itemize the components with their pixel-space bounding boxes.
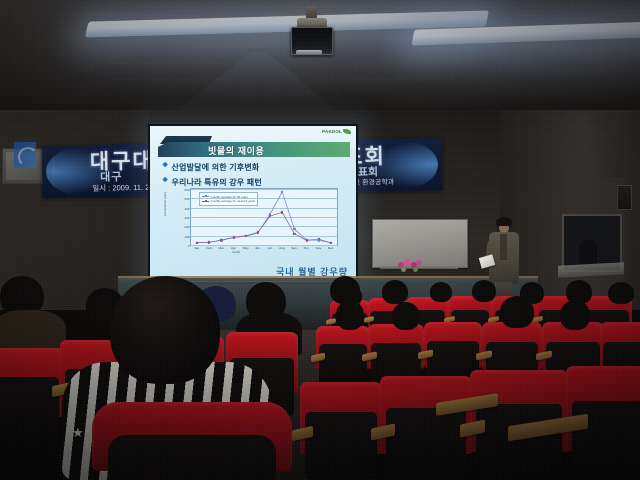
slide-bullet: ❖ 산업발달에 의한 기후변화 xyxy=(162,162,352,173)
chart-x-tick-label: Jan. xyxy=(194,246,200,250)
rainfall-chart: precipitation (mm) monthly average for 3… xyxy=(164,186,346,262)
chart-x-axis-title: month xyxy=(232,250,240,254)
chart-data-point xyxy=(196,242,198,244)
flower-leaf xyxy=(413,267,418,272)
attendee-head xyxy=(330,276,360,304)
chart-data-point xyxy=(281,191,283,193)
chart-data-point xyxy=(293,233,295,235)
attendee-head xyxy=(472,280,496,302)
chart-data-point xyxy=(232,236,234,238)
chart-data-point xyxy=(318,238,320,240)
chart-data-point xyxy=(330,242,332,244)
projector-lens xyxy=(296,50,322,55)
seat-shell xyxy=(0,377,59,442)
chart-x-tick-label: Dec. xyxy=(328,246,334,250)
auditorium-photo: 대구대 대구 일시 : 2009. 11. 20 발표회 발표회 대구대학교 환… xyxy=(0,0,640,480)
seat-armrest-group xyxy=(508,420,594,438)
chart-series-line xyxy=(197,212,331,243)
chart-series-layer xyxy=(191,189,337,245)
chart-y-tick-label: 200 xyxy=(184,225,189,229)
attendee-head xyxy=(500,296,534,328)
flower-petal xyxy=(404,259,411,266)
bullet-marker-icon: ❖ xyxy=(162,162,168,170)
attendee-head xyxy=(560,300,590,330)
flower-leaf xyxy=(401,267,406,272)
ceiling-seam xyxy=(350,60,476,64)
chart-x-tick-label: Jun. xyxy=(255,246,261,250)
wall-speaker xyxy=(617,185,632,210)
chart-plot-area: monthly average for 30 years monthly ave… xyxy=(190,188,338,246)
chart-y-tick-label: 600 xyxy=(184,188,189,192)
chart-data-point xyxy=(281,211,283,213)
chart-x-tick-label: Feb. xyxy=(206,246,212,250)
chart-x-tick-label: Jul. xyxy=(268,246,273,250)
seat-shell xyxy=(108,435,276,480)
bullet-text: 산업발달에 의한 기후변화 xyxy=(171,162,259,173)
foreground-attendee-head xyxy=(110,276,220,384)
chart-x-tick-label: Mar. xyxy=(218,246,224,250)
chart-data-point xyxy=(257,231,259,233)
chart-y-tick-label: 400 xyxy=(184,207,189,211)
auditorium-seat[interactable] xyxy=(380,376,472,480)
chart-y-axis-title: precipitation (mm) xyxy=(163,192,167,216)
chart-y-tick-label: 100 xyxy=(184,235,189,239)
seat-armrest-group xyxy=(436,398,506,414)
star-pattern-icon: ★ xyxy=(72,426,84,439)
leaf-icon xyxy=(343,129,351,134)
chart-data-point xyxy=(245,235,247,237)
chart-data-point xyxy=(293,228,295,230)
chart-data-point xyxy=(305,239,307,241)
seat-shell xyxy=(572,401,640,480)
ceiling-seam xyxy=(498,70,608,74)
bullet-marker-icon: ❖ xyxy=(162,177,168,185)
ceiling-seam xyxy=(112,78,232,82)
logo-text: PAKDOL xyxy=(322,129,342,134)
chart-x-tick-label: Sep. xyxy=(291,246,297,250)
chart-x-tick-label: Oct. xyxy=(304,246,310,250)
blue-wall-sign xyxy=(14,142,36,168)
attendee-head xyxy=(608,282,634,304)
presenter-lapel xyxy=(500,234,507,260)
ceiling-seam xyxy=(286,92,320,96)
chart-y-tick-label: 0 xyxy=(188,244,190,248)
flower-arrangement xyxy=(396,258,426,274)
chart-x-tick-label: Nov. xyxy=(316,246,322,250)
banner-date: 일시 : 2009. 11. 20 xyxy=(92,182,153,194)
seat-shell xyxy=(476,404,562,480)
presenter-hair xyxy=(496,217,512,226)
chart-x-tick-label: May xyxy=(243,246,249,250)
chart-data-point xyxy=(208,241,210,243)
seat-shell xyxy=(386,408,467,480)
chart-y-tick-label: 500 xyxy=(184,197,189,201)
chart-x-tick-label: Aug. xyxy=(279,246,285,250)
attendee-head xyxy=(392,302,420,330)
ceiling-seam xyxy=(112,62,230,67)
chart-data-point xyxy=(220,239,222,241)
ceiling-seam xyxy=(336,78,454,82)
chart-series-line xyxy=(197,192,331,243)
auditorium-seat[interactable] xyxy=(300,382,382,480)
seat-shell xyxy=(319,344,367,385)
chart-y-tick-label: 300 xyxy=(184,216,189,220)
slide-title: 빗물의 재이용 xyxy=(208,144,264,157)
booth-operator xyxy=(579,240,597,264)
company-logo: PAKDOL xyxy=(322,129,351,134)
attendee-head xyxy=(336,300,364,330)
auditorium-seat[interactable] xyxy=(92,402,292,480)
presentation-slide: PAKDOL 빗물의 재이용 ❖ 산업발달에 의한 기후변화 ❖ 우리나라 특유… xyxy=(150,126,356,282)
attendee-head xyxy=(430,282,452,302)
flower-petal xyxy=(416,260,422,266)
seat-shell xyxy=(305,412,377,480)
chart-data-point xyxy=(269,215,271,217)
attendee-head xyxy=(382,280,408,304)
